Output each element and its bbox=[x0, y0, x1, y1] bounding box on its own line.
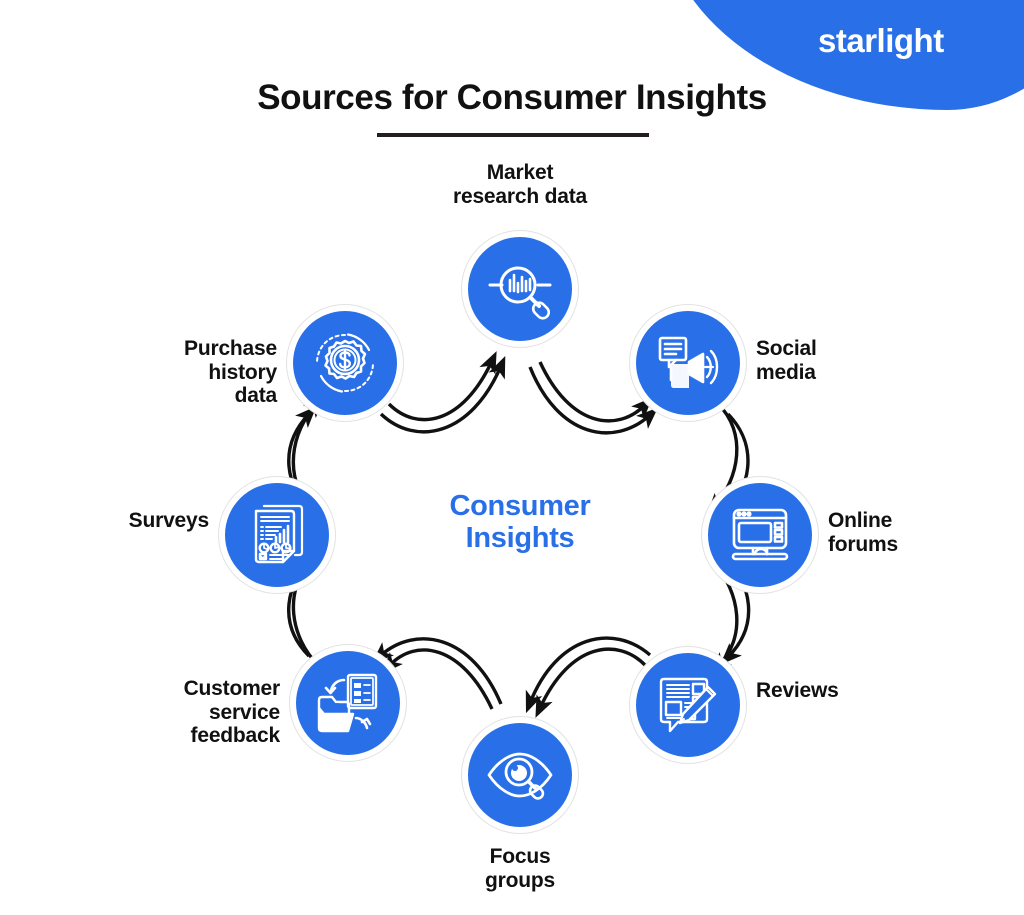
title-underline bbox=[377, 133, 649, 137]
page-title: Sources for Consumer Insights bbox=[0, 78, 1024, 118]
center-label-line2: Insights bbox=[412, 522, 628, 554]
node-label-social-media: Social media bbox=[756, 337, 817, 384]
node-label-market-research-data: Market research data bbox=[400, 161, 640, 208]
center-label: Consumer Insights bbox=[412, 490, 628, 555]
node-label-reviews: Reviews bbox=[756, 679, 839, 703]
report-charts-icon bbox=[225, 483, 329, 587]
folder-refresh-document-icon bbox=[296, 651, 400, 755]
node-label-surveys: Surveys bbox=[129, 509, 209, 533]
magnifier-waveform-icon bbox=[468, 237, 572, 341]
center-label-line1: Consumer bbox=[412, 490, 628, 522]
node-label-online-forums: Online forums bbox=[828, 509, 898, 556]
node-label-purchase-history-data: Purchase history data bbox=[184, 337, 277, 408]
brand-logo-text: starlight bbox=[818, 22, 944, 60]
node-label-focus-groups: Focus groups bbox=[400, 845, 640, 892]
eye-magnifier-icon bbox=[468, 723, 572, 827]
gear-dollar-icon bbox=[293, 311, 397, 415]
desktop-computer-icon bbox=[708, 483, 812, 587]
node-label-customer-service-feedback: Customer service feedback bbox=[184, 677, 280, 748]
infographic-canvas: starlight Sources for Consumer Insights bbox=[0, 0, 1024, 915]
document-pencil-icon bbox=[636, 653, 740, 757]
megaphone-speech-bubble-icon bbox=[636, 311, 740, 415]
